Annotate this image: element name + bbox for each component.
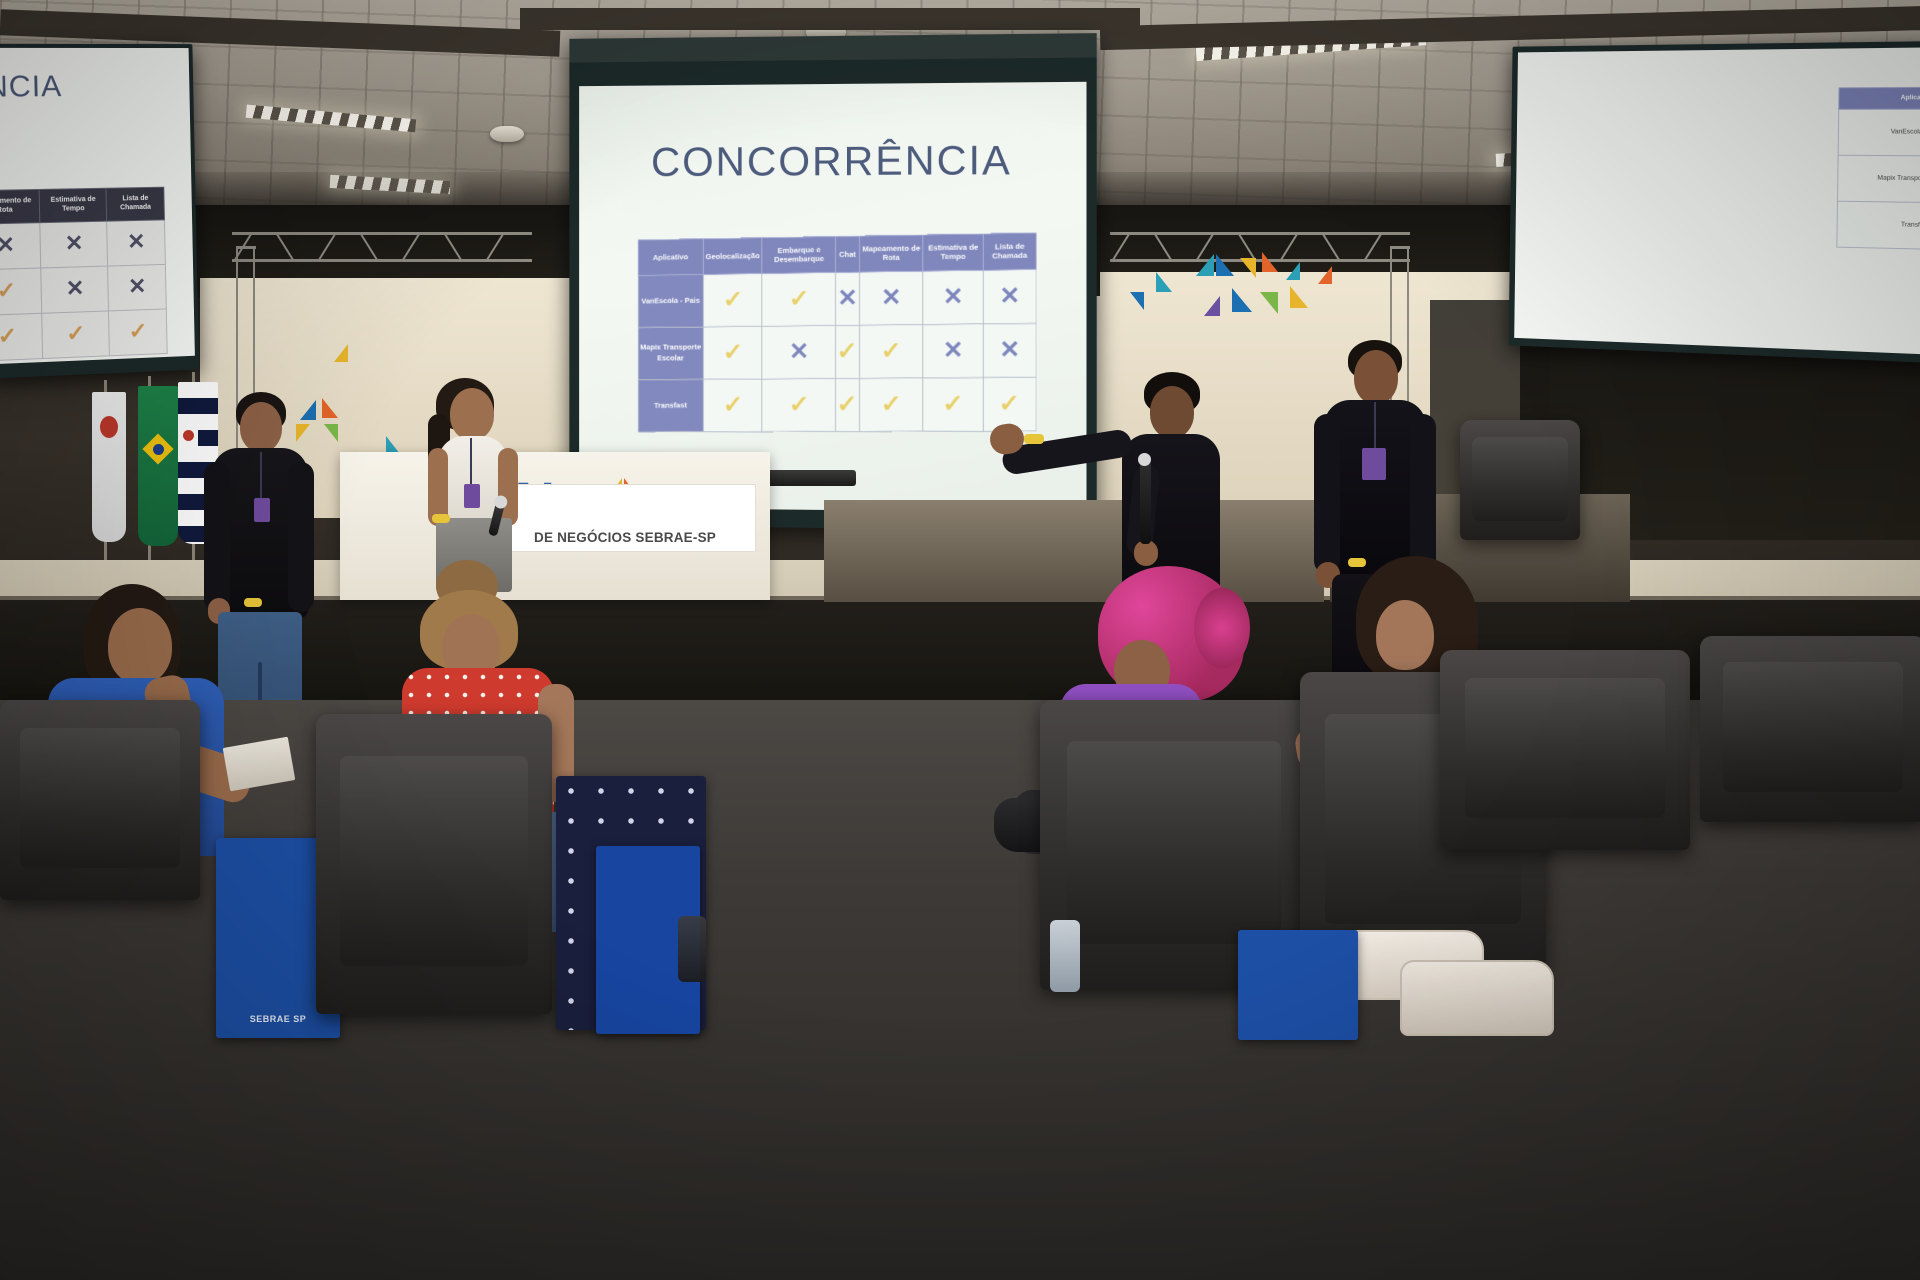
cell-2-0: ✓ bbox=[703, 379, 762, 432]
left-table-row-1: ✓ ✕ ✕ bbox=[0, 264, 166, 315]
flag-white-emblem bbox=[100, 416, 118, 438]
cross-icon: ✕ bbox=[128, 275, 147, 297]
head bbox=[1150, 386, 1194, 438]
cross-icon: ✕ bbox=[66, 277, 85, 300]
wristband bbox=[432, 514, 450, 523]
th-lista: Lista de Chamada bbox=[983, 233, 1036, 270]
left-cell-1-2: ✕ bbox=[108, 264, 166, 311]
wall-triangle-11 bbox=[1318, 266, 1332, 284]
badge bbox=[1362, 448, 1386, 480]
left-cell-2-0: ✓ bbox=[0, 313, 43, 361]
right-cell-0: VanEscola - Pais bbox=[1838, 109, 1920, 156]
bag-label: SEBRAE SP bbox=[216, 1014, 340, 1024]
hair-curl-accent bbox=[1194, 588, 1250, 668]
head bbox=[108, 608, 172, 684]
right-th-0: Aplicativo bbox=[1839, 87, 1920, 110]
left-slide-title: ÊNCIA bbox=[0, 70, 168, 105]
cross-icon: ✕ bbox=[999, 284, 1020, 309]
cross-icon: ✕ bbox=[943, 339, 963, 363]
cell-0-4: ✕ bbox=[923, 270, 983, 324]
cell-2-2: ✓ bbox=[836, 378, 859, 431]
left-cell-0-0: ✕ bbox=[0, 222, 41, 269]
badge bbox=[254, 498, 270, 522]
row-label-transfast: Transfast bbox=[638, 379, 703, 432]
arm-right bbox=[288, 462, 314, 612]
badge bbox=[464, 484, 480, 508]
check-icon: ✓ bbox=[722, 288, 743, 312]
lanyard bbox=[260, 452, 262, 500]
left-table-row-0: ✕ ✕ ✕ bbox=[0, 219, 165, 269]
microphone bbox=[1140, 460, 1151, 544]
cell-0-1: ✓ bbox=[762, 272, 836, 326]
cell-2-1: ✓ bbox=[762, 378, 836, 431]
wall-triangle-5 bbox=[1286, 262, 1300, 280]
left-th-0: Mapeamento de Rota bbox=[0, 189, 40, 223]
left-cell-0-2: ✕ bbox=[107, 219, 165, 265]
wall-triangle-3 bbox=[1240, 258, 1256, 278]
flag-sao-paulo-circle bbox=[183, 430, 194, 441]
wall-triangle-9 bbox=[1204, 296, 1220, 316]
cell-1-4: ✕ bbox=[923, 324, 983, 378]
water-bottle-2 bbox=[678, 916, 706, 982]
left-cell-0-1: ✕ bbox=[40, 221, 108, 268]
th-embarque: Embarque e Desembarque bbox=[762, 236, 836, 273]
left-cell-1-0: ✓ bbox=[0, 267, 42, 315]
sebrae-bag-2 bbox=[1238, 930, 1358, 1040]
table-row: VanEscola - Pais ✓ ✓ ✕ ✕ ✕ ✕ bbox=[638, 269, 1036, 327]
check-icon: ✓ bbox=[881, 339, 902, 363]
left-table-header-row: Mapeamento de Rota Estimativa de Tempo L… bbox=[0, 187, 164, 224]
left-table-row-2: ✓ ✓ ✓ bbox=[0, 308, 167, 361]
water-bottle-1 bbox=[1050, 920, 1080, 992]
cell-1-0: ✓ bbox=[703, 326, 762, 379]
wall-triangle-l4 bbox=[324, 424, 338, 442]
cell-1-3: ✓ bbox=[859, 325, 923, 379]
cross-icon: ✕ bbox=[789, 340, 809, 364]
lanyard bbox=[1374, 402, 1376, 452]
cell-2-3: ✓ bbox=[859, 378, 923, 432]
arm-right bbox=[1410, 414, 1436, 574]
wall-triangle-4 bbox=[1262, 252, 1278, 272]
check-icon: ✓ bbox=[837, 393, 858, 417]
wall-triangle-1 bbox=[1196, 254, 1214, 276]
truss-left bbox=[232, 232, 532, 262]
cross-icon: ✕ bbox=[943, 285, 963, 310]
right-table-row-0: VanEscola - Pais bbox=[1838, 109, 1920, 156]
cell-2-4: ✓ bbox=[923, 378, 983, 432]
right-projection-screen: Aplicativo VanEscola - Pais Mapix Transp… bbox=[1509, 41, 1920, 363]
left-th-1: Estimativa de Tempo bbox=[39, 188, 107, 222]
check-icon: ✓ bbox=[942, 392, 963, 416]
wristband-pointing bbox=[1024, 434, 1044, 444]
table-header-row: Aplicativo Geolocalização Embarque e Des… bbox=[638, 233, 1036, 276]
wall-triangle-12 bbox=[1130, 292, 1144, 310]
cell-1-5: ✕ bbox=[983, 323, 1036, 377]
right-table-row-2: Transfast bbox=[1837, 202, 1920, 251]
table-row: Mapix Transporte Escolar ✓ ✕ ✓ ✓ ✕ ✕ bbox=[638, 323, 1036, 379]
audience-5-sneaker-right bbox=[1400, 960, 1554, 1036]
head bbox=[240, 402, 282, 452]
row-label-mapix: Mapix Transporte Escolar bbox=[638, 327, 703, 380]
check-icon: ✓ bbox=[0, 325, 17, 348]
chair-1 bbox=[0, 700, 200, 900]
row-label-vanescola: VanEscola - Pais bbox=[638, 274, 703, 327]
table-row: Transfast ✓ ✓ ✓ ✓ ✓ ✓ bbox=[638, 377, 1036, 432]
chair-5 bbox=[1440, 650, 1690, 850]
wall-triangle-7 bbox=[1260, 292, 1278, 314]
check-icon: ✓ bbox=[881, 393, 902, 417]
th-aplicativo: Aplicativo bbox=[638, 239, 703, 276]
wall-triangle-l5 bbox=[334, 344, 348, 362]
right-slide-surface: Aplicativo VanEscola - Pais Mapix Transp… bbox=[1514, 47, 1920, 354]
th-mapeamento: Mapeamento de Rota bbox=[859, 235, 923, 272]
left-th-2: Lista de Chamada bbox=[106, 187, 164, 220]
cross-icon: ✕ bbox=[127, 231, 146, 253]
left-slide-table: Mapeamento de Rota Estimativa de Tempo L… bbox=[0, 187, 168, 362]
head bbox=[450, 388, 494, 440]
cell-0-0: ✓ bbox=[703, 274, 762, 327]
cross-icon: ✕ bbox=[999, 338, 1020, 363]
chair-6 bbox=[1700, 636, 1920, 822]
th-geolocalizacao: Geolocalização bbox=[703, 238, 762, 275]
chair-7 bbox=[1460, 420, 1580, 540]
cell-0-5: ✕ bbox=[983, 269, 1036, 323]
cross-icon: ✕ bbox=[881, 286, 901, 310]
cell-0-2: ✕ bbox=[836, 272, 859, 325]
check-icon: ✓ bbox=[999, 392, 1021, 416]
wall-triangle-10 bbox=[1156, 272, 1172, 292]
flag-brazil bbox=[138, 386, 178, 546]
left-cell-2-1: ✓ bbox=[42, 310, 110, 358]
ceiling-beam-center bbox=[520, 8, 1140, 30]
competitor-table: Aplicativo Geolocalização Embarque e Des… bbox=[638, 232, 1037, 432]
cell-1-2: ✓ bbox=[836, 325, 859, 378]
check-icon: ✓ bbox=[66, 322, 86, 345]
flag-brazil-globe bbox=[153, 444, 164, 455]
left-cell-2-2: ✓ bbox=[109, 308, 167, 355]
head bbox=[1354, 350, 1398, 404]
head bbox=[1376, 600, 1434, 670]
chair-2 bbox=[316, 714, 552, 1014]
check-icon: ✓ bbox=[789, 287, 810, 311]
check-icon: ✓ bbox=[789, 393, 810, 417]
cross-icon: ✕ bbox=[837, 287, 857, 311]
check-icon: ✓ bbox=[722, 393, 743, 417]
cross-icon: ✕ bbox=[65, 232, 84, 255]
left-slide-surface: ÊNCIA Mapeamento de Rota Estimativa de T… bbox=[0, 48, 195, 364]
check-icon: ✓ bbox=[128, 320, 147, 343]
th-estimativa: Estimativa de Tempo bbox=[923, 234, 983, 271]
smoke-detector bbox=[490, 126, 524, 142]
wall-triangle-2 bbox=[1216, 254, 1234, 276]
auditorium-scene: ÊNCIA Mapeamento de Rota Estimativa de T… bbox=[0, 0, 1920, 1280]
truss-right bbox=[1110, 232, 1410, 262]
check-icon: ✓ bbox=[837, 340, 858, 364]
flag-white bbox=[92, 392, 126, 542]
wall-triangle-8 bbox=[1290, 286, 1308, 308]
right-cell-2: Transfast bbox=[1837, 202, 1920, 251]
left-cell-1-1: ✕ bbox=[41, 266, 109, 313]
check-icon: ✓ bbox=[722, 341, 743, 365]
left-projection-screen: ÊNCIA Mapeamento de Rota Estimativa de T… bbox=[0, 44, 199, 379]
arm-left bbox=[1314, 414, 1340, 574]
lanyard bbox=[470, 438, 472, 488]
wall-triangle-6 bbox=[1232, 288, 1252, 312]
right-table-header-row: Aplicativo bbox=[1839, 87, 1920, 110]
right-cell-1: Mapix Transporte Escolar bbox=[1837, 156, 1920, 204]
right-table-row-1: Mapix Transporte Escolar bbox=[1837, 156, 1920, 204]
th-chat: Chat bbox=[836, 236, 859, 272]
screen-top-bar bbox=[569, 33, 1096, 62]
cell-0-3: ✕ bbox=[859, 271, 923, 325]
cell-1-1: ✕ bbox=[762, 325, 836, 378]
slide-title: CONCORRÊNCIA bbox=[579, 136, 1086, 186]
cross-icon: ✕ bbox=[0, 234, 15, 257]
check-icon: ✓ bbox=[0, 279, 16, 302]
right-slide-table: Aplicativo VanEscola - Pais Mapix Transp… bbox=[1836, 86, 1920, 251]
